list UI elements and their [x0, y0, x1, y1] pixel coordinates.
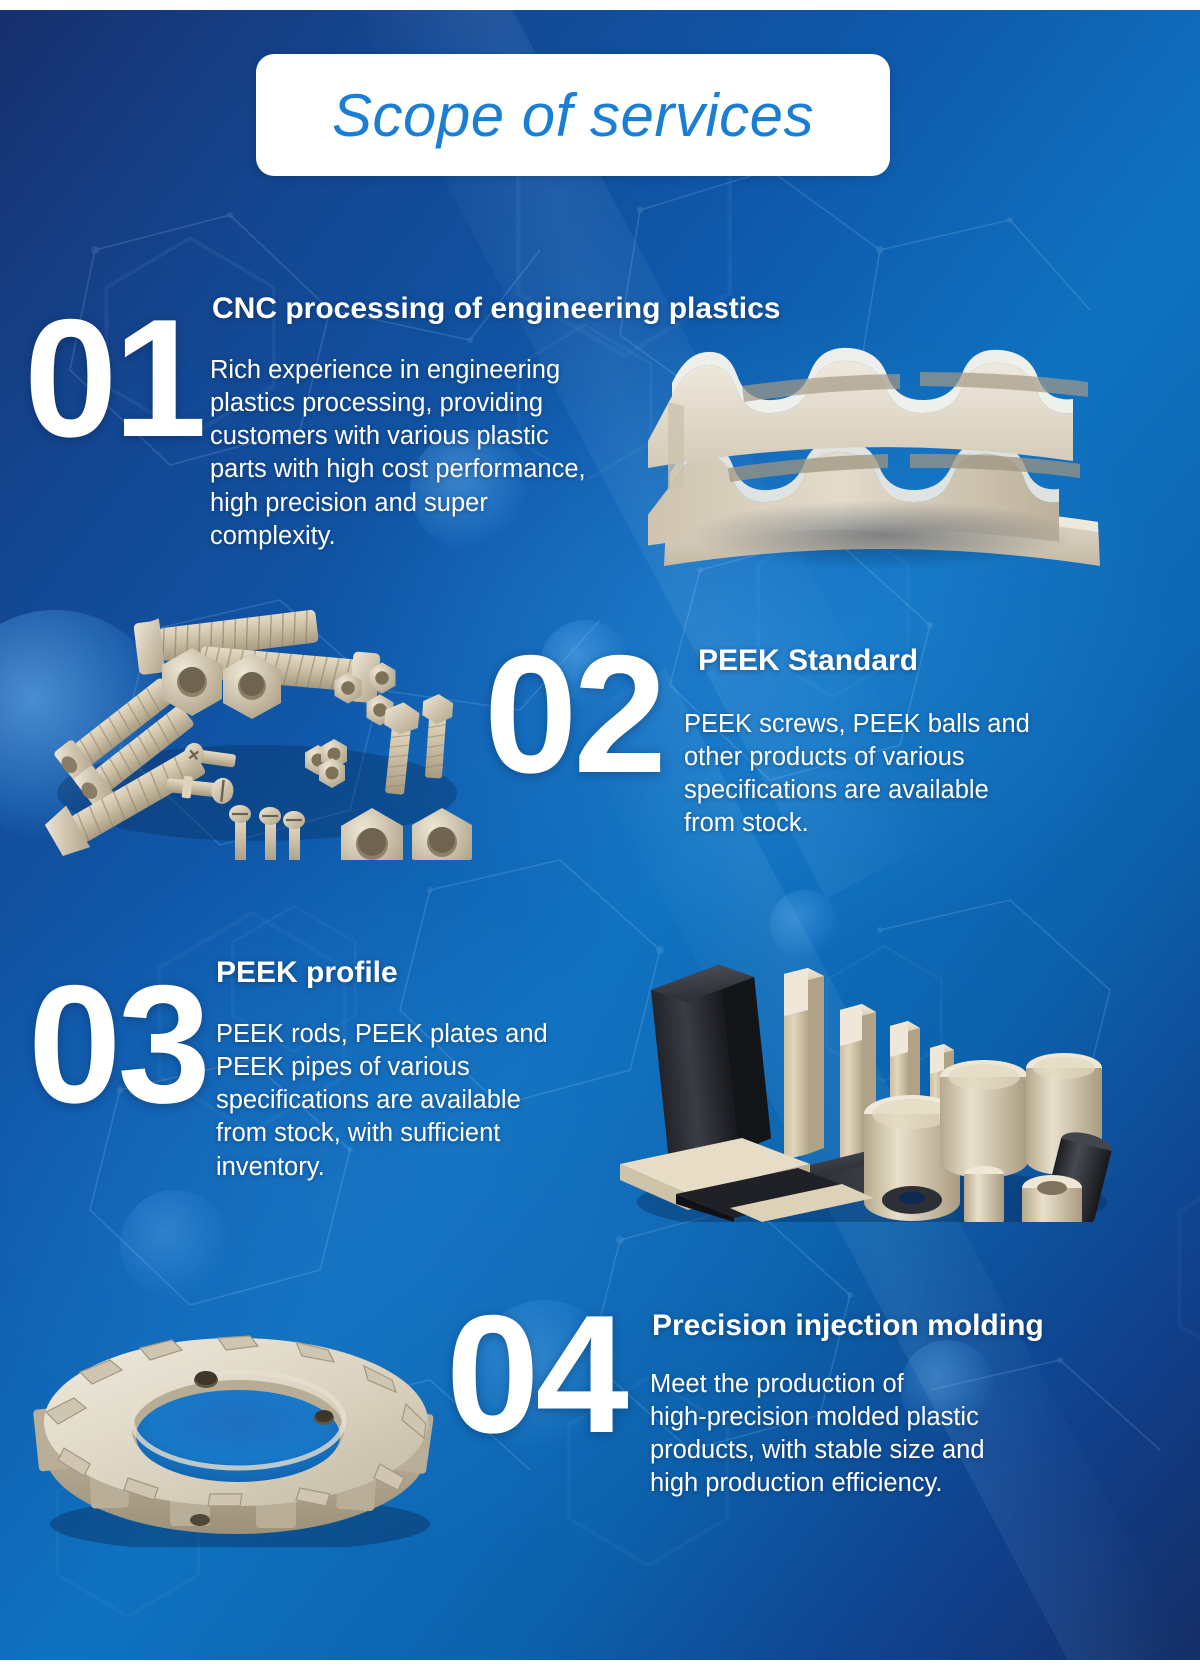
section-04-body-line: Meet the production of [650, 1368, 1090, 1401]
section-03-body-line: from stock, with sufficient [216, 1117, 636, 1150]
section-02-body-line: from stock. [684, 807, 1104, 840]
section-01-heading: CNC processing of engineering plastics [212, 292, 780, 326]
section-03-body-line: PEEK pipes of various [216, 1051, 636, 1084]
section-02-image [42, 558, 472, 860]
section-03-number: 03 [28, 972, 207, 1116]
section-04-body-line: high production efficiency. [650, 1467, 1090, 1500]
section-04-body: Meet the production of high-precision mo… [650, 1368, 1090, 1501]
section-03-body-line: specifications are available [216, 1084, 636, 1117]
section-04-heading: Precision injection molding [652, 1309, 1044, 1343]
section-02-body: PEEK screws, PEEK balls and other produc… [684, 708, 1104, 841]
section-01-body-line: complexity. [210, 520, 660, 553]
section-01-number: 01 [24, 306, 203, 450]
section-01-body-line: customers with various plastic [210, 420, 660, 453]
section-03-image [612, 902, 1117, 1222]
section-04-number: 04 [446, 1302, 625, 1446]
section-03-heading: PEEK profile [216, 956, 398, 990]
peek-profiles-icon [612, 902, 1117, 1222]
poster-canvas: Scope of services [0, 0, 1200, 1675]
section-01-body-line: parts with high cost performance, [210, 453, 660, 486]
section-02-body-line: PEEK screws, PEEK balls and [684, 708, 1104, 741]
section-01-body-line: high precision and super [210, 487, 660, 520]
section-04-body-line: products, with stable size and [650, 1434, 1090, 1467]
section-01-body: Rich experience in engineering plastics … [210, 354, 660, 553]
section-01-body-line: plastics processing, providing [210, 387, 660, 420]
section-04-body-line: high-precision molded plastic [650, 1401, 1090, 1434]
section-02-body-line: other products of various [684, 741, 1104, 774]
peek-screws-icon [42, 558, 472, 860]
section-01-image [648, 310, 1113, 570]
section-02-body-line: specifications are available [684, 774, 1104, 807]
peek-gear-ring-icon [28, 1272, 448, 1547]
title-card: Scope of services [256, 54, 890, 176]
section-03-body-line: PEEK rods, PEEK plates and [216, 1018, 636, 1051]
section-01-body-line: Rich experience in engineering [210, 354, 660, 387]
section-02-heading: PEEK Standard [698, 644, 918, 678]
section-02-number: 02 [484, 642, 663, 786]
poster-background: Scope of services [0, 10, 1200, 1660]
page-title: Scope of services [332, 81, 814, 150]
cnc-peek-part-icon [648, 310, 1113, 570]
section-03-body-line: inventory. [216, 1151, 636, 1184]
section-03-body: PEEK rods, PEEK plates and PEEK pipes of… [216, 1018, 636, 1184]
section-04-image [28, 1272, 448, 1547]
